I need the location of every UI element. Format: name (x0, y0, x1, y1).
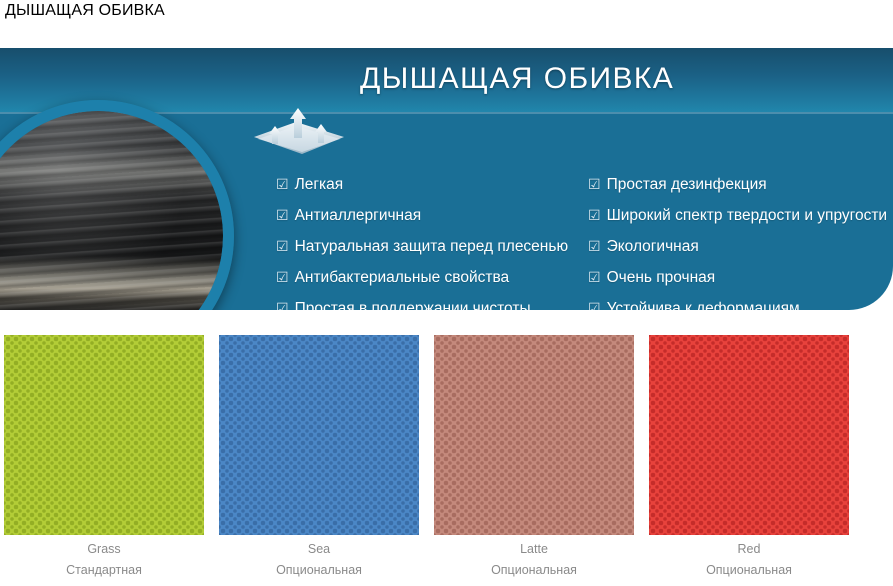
checkbox-checked-icon: ☑ (276, 269, 289, 285)
feature-item-label: Натуральная защита перед плесенью (295, 238, 569, 257)
feature-item-label: Широкий спектр твердости и упругости (607, 207, 888, 226)
feature-item: ☑Натуральная защита перед плесенью (276, 238, 576, 257)
color-swatch-name: Latte (434, 539, 634, 560)
color-swatch-availability: Опциональная (434, 560, 634, 581)
breathable-fabric-icon (248, 104, 350, 156)
banner-title: ДЫШАЩАЯ ОБИВКА (360, 62, 674, 96)
feature-item: ☑Простая в поддержании чистоты (276, 300, 576, 310)
color-swatch-labels: SeaОпциональная (219, 539, 419, 582)
feature-banner: ДЫШАЩАЯ ОБИВКА ☑Легкая☑Антиаллергичная☑Н… (0, 48, 893, 310)
feature-item: ☑Очень прочная (588, 269, 888, 288)
feature-item: ☑Устойчива к деформациям (588, 300, 888, 310)
feature-item-label: Экологичная (607, 238, 699, 257)
feature-item-label: Устойчива к деформациям (607, 300, 800, 310)
feature-item: ☑Широкий спектр твердости и упругости (588, 207, 888, 226)
feature-list-right: ☑Простая дезинфекция☑Широкий спектр твер… (588, 176, 888, 310)
color-swatch-name: Grass (4, 539, 204, 560)
color-swatch-cell[interactable]: LatteОпциональная (434, 335, 634, 535)
checkbox-checked-icon: ☑ (276, 300, 289, 310)
feature-item-label: Простая в поддержании чистоты (295, 300, 531, 310)
feature-item: ☑Простая дезинфекция (588, 176, 888, 195)
checkbox-checked-icon: ☑ (588, 269, 601, 285)
color-swatch-labels: GrassСтандартная (4, 539, 204, 582)
checkbox-checked-icon: ☑ (588, 300, 601, 310)
checkbox-checked-icon: ☑ (588, 176, 601, 192)
feature-item: ☑Легкая (276, 176, 576, 195)
color-swatch-labels: LatteОпциональная (434, 539, 634, 582)
color-swatch-tile[interactable] (434, 335, 634, 535)
checkbox-checked-icon: ☑ (276, 207, 289, 223)
feature-item-label: Легкая (295, 176, 344, 195)
color-swatch-labels: RedОпциональная (649, 539, 849, 582)
fabric-photo-circle (0, 100, 234, 310)
color-swatch-availability: Стандартная (4, 560, 204, 581)
feature-item: ☑Антиаллергичная (276, 207, 576, 226)
color-swatch-availability: Опциональная (649, 560, 849, 581)
checkbox-checked-icon: ☑ (588, 207, 601, 223)
color-swatch-cell[interactable]: SeaОпциональная (219, 335, 419, 535)
feature-list-left: ☑Легкая☑Антиаллергичная☑Натуральная защи… (276, 176, 576, 310)
color-swatch-tile[interactable] (4, 335, 204, 535)
feature-item-label: Простая дезинфекция (607, 176, 767, 195)
color-swatch-tile[interactable] (649, 335, 849, 535)
color-swatch-availability: Опциональная (219, 560, 419, 581)
feature-item: ☑Экологичная (588, 238, 888, 257)
color-swatch-cell[interactable]: RedОпциональная (649, 335, 849, 535)
page-title: ДЫШАЩАЯ ОБИВКА (5, 2, 165, 20)
feature-item-label: Антиаллергичная (295, 207, 422, 226)
feature-item: ☑Антибактериальные свойства (276, 269, 576, 288)
color-swatch-tile[interactable] (219, 335, 419, 535)
feature-item-label: Очень прочная (607, 269, 716, 288)
photo-gloss-overlay (0, 111, 223, 310)
checkbox-checked-icon: ☑ (276, 176, 289, 192)
color-swatch-name: Red (649, 539, 849, 560)
color-swatch-cell[interactable]: GrassСтандартная (4, 335, 204, 535)
checkbox-checked-icon: ☑ (276, 238, 289, 254)
feature-item-label: Антибактериальные свойства (295, 269, 510, 288)
color-swatch-name: Sea (219, 539, 419, 560)
color-swatch-row: GrassСтандартнаяSeaОпциональнаяLatteОпци… (0, 335, 893, 536)
checkbox-checked-icon: ☑ (588, 238, 601, 254)
